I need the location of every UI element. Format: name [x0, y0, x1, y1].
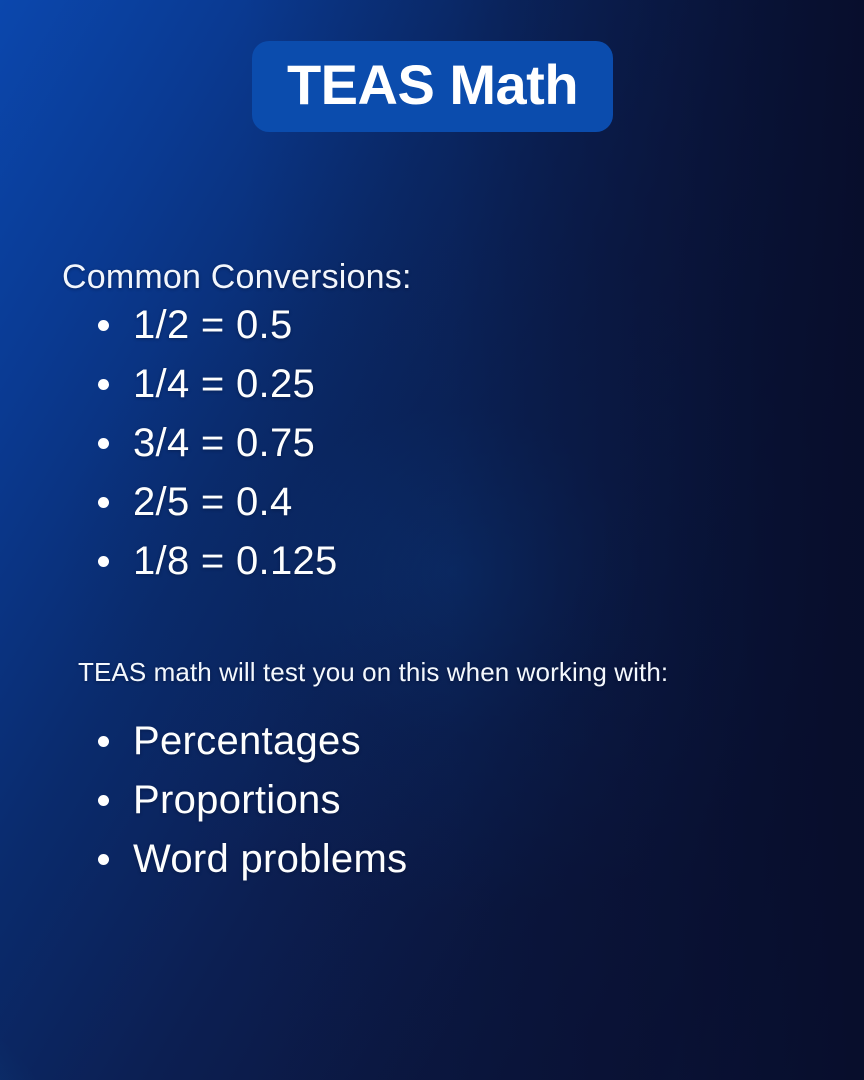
- list-item: 1/4 = 0.25: [98, 355, 338, 414]
- teas-math-poster: TEAS Math Common Conversions: 1/2 = 0.5 …: [0, 0, 864, 1080]
- topics-intro-text: TEAS math will test you on this when wor…: [78, 657, 668, 688]
- list-item: Word problems: [98, 830, 407, 889]
- conversion-label: 1/4 = 0.25: [133, 362, 315, 407]
- conversions-heading: Common Conversions:: [62, 258, 412, 297]
- bullet-icon: [98, 854, 109, 865]
- bullet-icon: [98, 556, 109, 567]
- page-title: TEAS Math: [287, 57, 578, 116]
- list-item: 2/5 = 0.4: [98, 473, 338, 532]
- topics-list: Percentages Proportions Word problems: [98, 712, 407, 889]
- topic-label: Proportions: [133, 778, 341, 823]
- list-item: Percentages: [98, 712, 407, 771]
- conversion-label: 1/8 = 0.125: [133, 539, 338, 584]
- bullet-icon: [98, 497, 109, 508]
- bullet-icon: [98, 736, 109, 747]
- poster-content: TEAS Math Common Conversions: 1/2 = 0.5 …: [0, 0, 864, 1080]
- conversion-label: 2/5 = 0.4: [133, 480, 293, 525]
- list-item: 3/4 = 0.75: [98, 414, 338, 473]
- topic-label: Word problems: [133, 837, 407, 882]
- conversions-list: 1/2 = 0.5 1/4 = 0.25 3/4 = 0.75 2/5 = 0.…: [98, 296, 338, 591]
- list-item: Proportions: [98, 771, 407, 830]
- list-item: 1/8 = 0.125: [98, 532, 338, 591]
- topic-label: Percentages: [133, 719, 361, 764]
- list-item: 1/2 = 0.5: [98, 296, 338, 355]
- conversion-label: 1/2 = 0.5: [133, 303, 293, 348]
- bullet-icon: [98, 438, 109, 449]
- bullet-icon: [98, 795, 109, 806]
- conversion-label: 3/4 = 0.75: [133, 421, 315, 466]
- bullet-icon: [98, 379, 109, 390]
- bullet-icon: [98, 320, 109, 331]
- title-badge: TEAS Math: [252, 41, 613, 132]
